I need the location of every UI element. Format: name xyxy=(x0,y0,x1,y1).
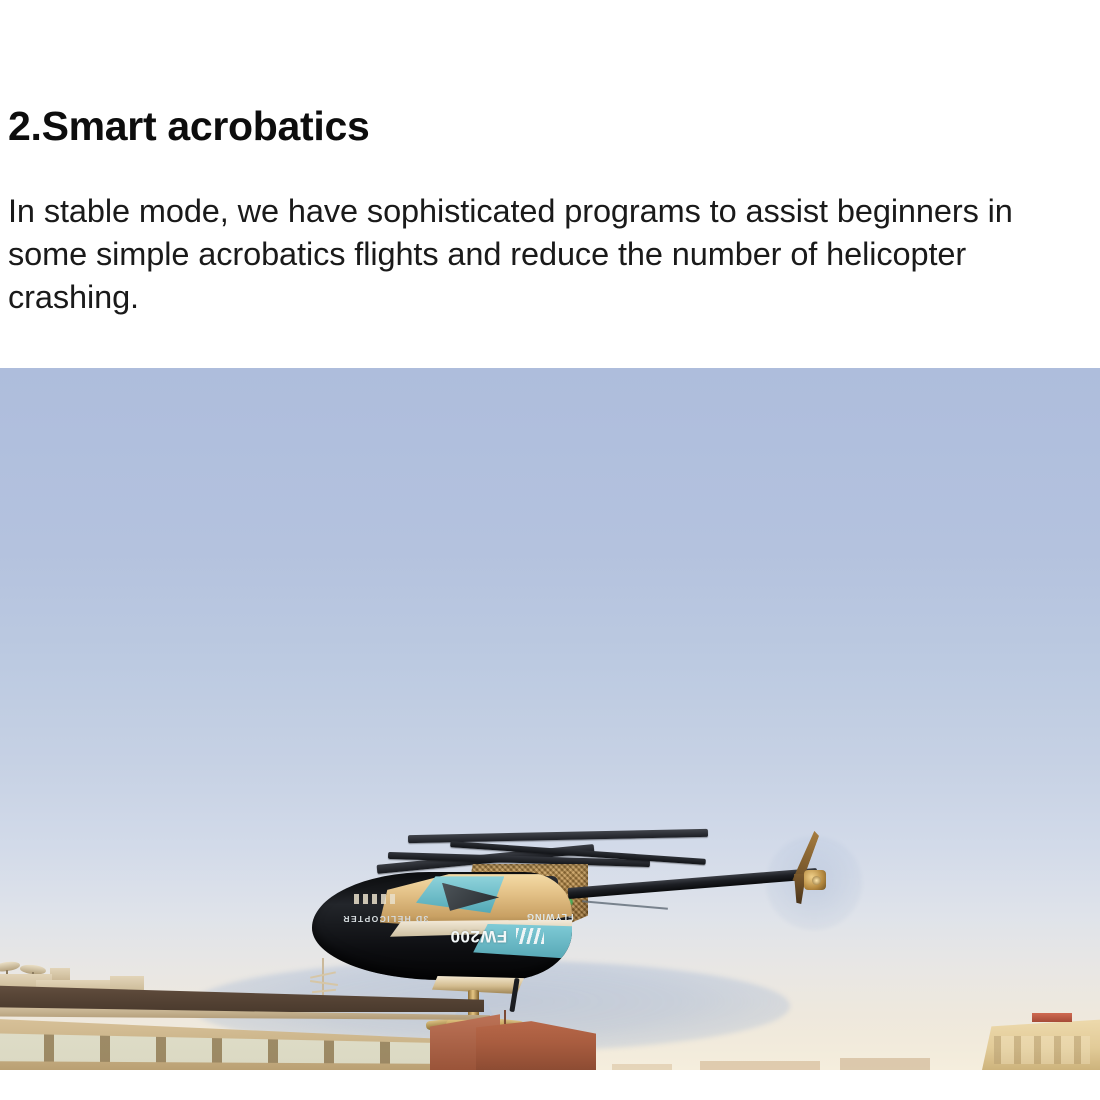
brick-antenna xyxy=(504,1010,506,1024)
section-description: In stable mode, we have sophisticated pr… xyxy=(8,190,1083,319)
hero-photo: FW200 FLYWING 3D HELICOPTER xyxy=(0,368,1100,1070)
antenna-arm xyxy=(312,989,336,993)
facade-pillar xyxy=(40,1018,56,1070)
page-title: 2.Smart acrobatics xyxy=(8,104,370,150)
bottom-margin xyxy=(0,1070,1100,1100)
satellite-dish-icon xyxy=(0,960,20,973)
main-building xyxy=(0,952,490,1070)
product-feature-page: 2.Smart acrobatics In stable mode, we ha… xyxy=(0,0,1100,1100)
antenna-arm xyxy=(310,980,338,986)
window-row xyxy=(994,1036,1090,1064)
cityscape xyxy=(0,900,1100,1070)
distant-building xyxy=(840,1058,930,1070)
brick-building xyxy=(476,1018,596,1070)
tail-rotor-bolt xyxy=(812,876,821,885)
distant-building xyxy=(700,1061,820,1070)
right-building xyxy=(982,1014,1100,1070)
right-roof-accent xyxy=(1032,1013,1072,1022)
